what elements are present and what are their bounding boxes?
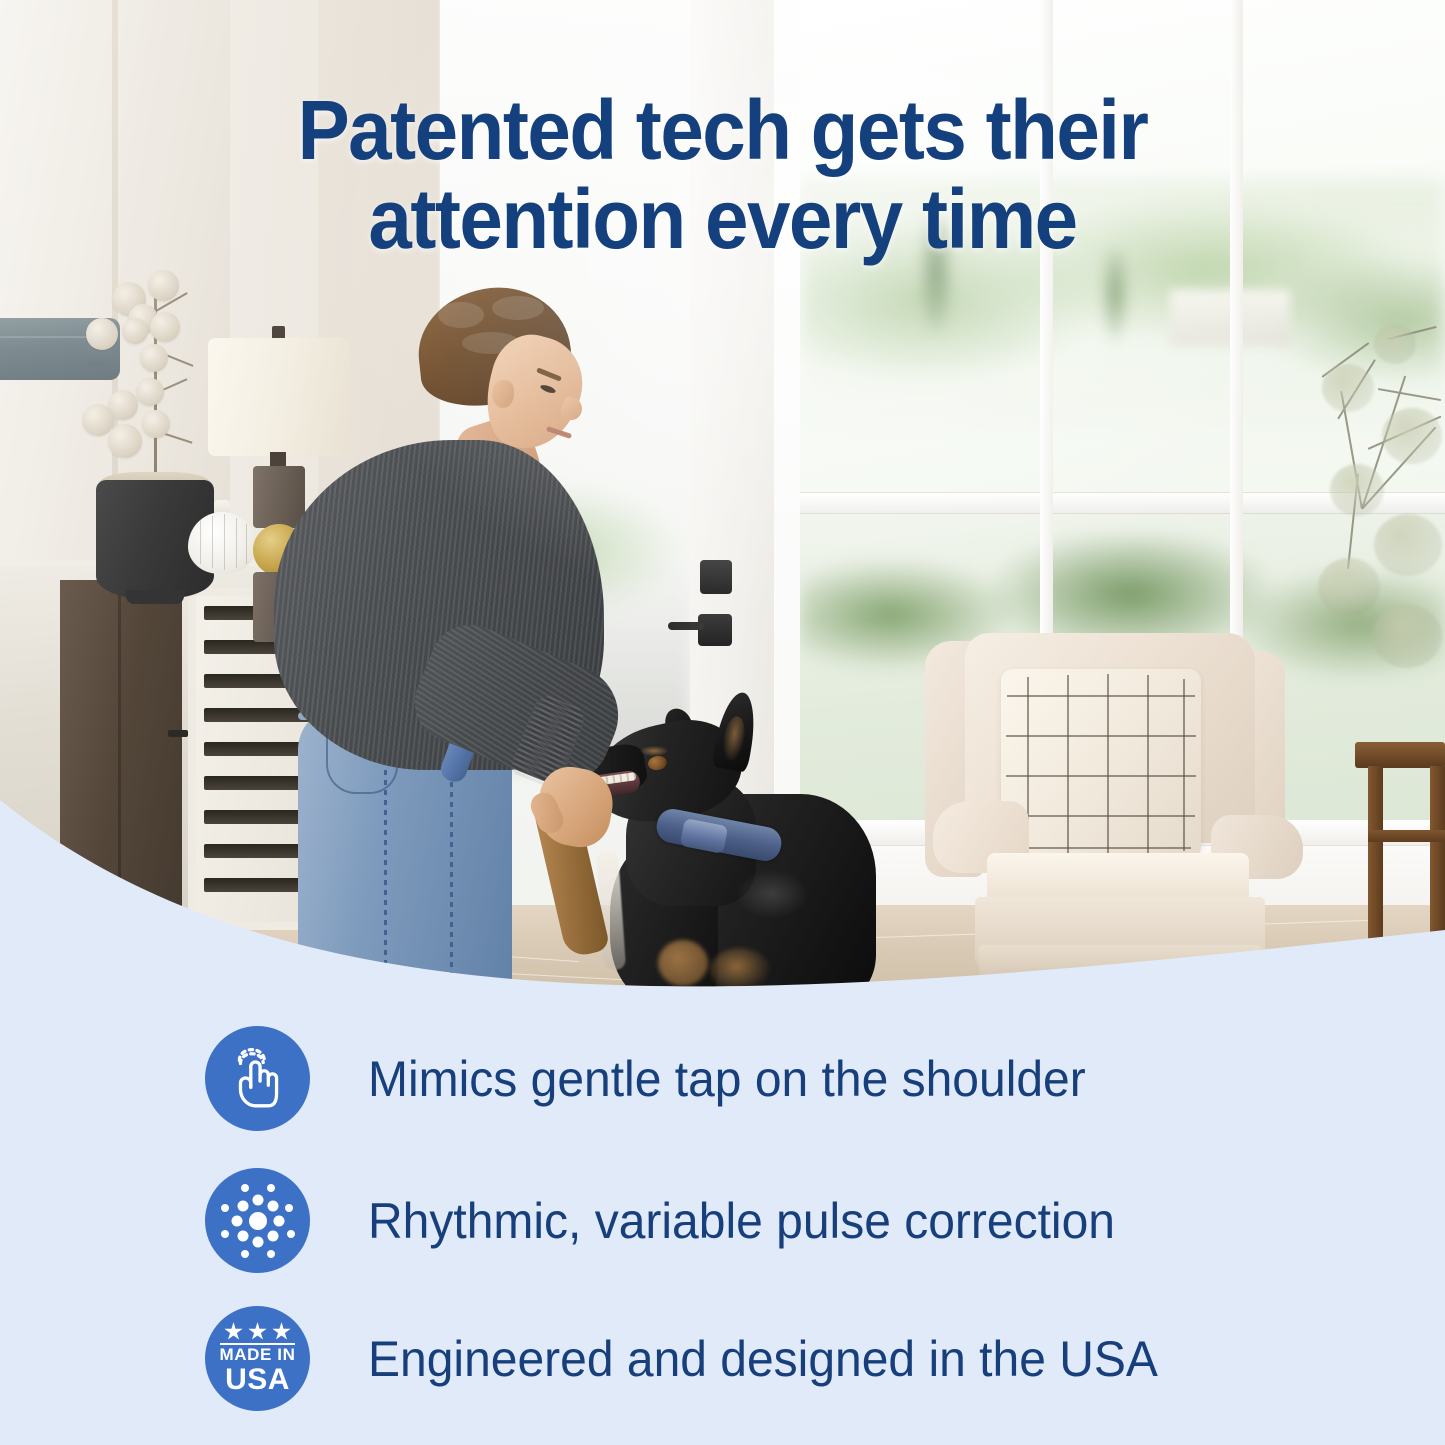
tap-hand-glyph — [225, 1046, 291, 1112]
pulse-burst-icon — [205, 1168, 310, 1273]
feature-row-usa: MADE IN USA Engineered and designed in t… — [205, 1306, 1191, 1411]
cotton-bloom — [140, 344, 168, 372]
cotton-bloom — [150, 312, 180, 342]
pulse-dot-inner — [252, 1194, 263, 1205]
distant-tree — [918, 218, 954, 338]
feature-row-tap: Mimics gentle tap on the shoulder — [205, 1026, 1116, 1131]
cotton-bloom — [148, 270, 179, 301]
branch-foliage — [1382, 408, 1442, 464]
vase-rib — [224, 514, 225, 570]
star-icon — [248, 1322, 267, 1341]
branch-foliage — [1374, 514, 1442, 576]
hair-highlight — [492, 296, 544, 320]
pulse-dot-outer — [267, 1184, 275, 1192]
feature-label: Engineered and designed in the USA — [368, 1334, 1158, 1384]
cotton-bloom — [86, 318, 118, 350]
pulse-dot-inner — [231, 1215, 242, 1226]
usa-text: USA — [225, 1365, 290, 1395]
pulse-dot-inner — [267, 1200, 278, 1211]
pulse-dot-outer — [241, 1250, 249, 1258]
vase-rib — [200, 520, 201, 564]
branch-foliage — [1318, 558, 1380, 616]
vase-rib — [212, 516, 213, 568]
door-handle-plate — [700, 560, 732, 594]
pulse-dot-center — [249, 1212, 267, 1230]
made-in-usa-glyph: MADE IN USA — [216, 1322, 300, 1396]
door-lock-plate — [698, 614, 732, 646]
star-icon — [224, 1322, 243, 1341]
tap-hand-icon — [205, 1026, 310, 1131]
hair-highlight — [438, 302, 484, 328]
cotton-bloom — [122, 318, 148, 344]
branch-foliage — [1322, 364, 1374, 412]
pulse-dot-inner — [252, 1236, 263, 1247]
star-icon — [272, 1322, 291, 1341]
pulse-dot-outer — [221, 1230, 229, 1238]
usa-star-row — [224, 1322, 291, 1341]
cotton-bloom — [142, 410, 170, 438]
sideboard-handle — [168, 730, 188, 737]
pulse-dot-inner — [273, 1215, 284, 1226]
pulse-dot-outer — [267, 1250, 275, 1258]
pulse-dot-inner — [267, 1230, 278, 1241]
pot-base — [126, 590, 184, 604]
made-in-usa-badge-icon: MADE IN USA — [205, 1306, 310, 1411]
branch-foliage — [1330, 464, 1384, 516]
pulse-dot-outer — [287, 1230, 295, 1238]
pillow-grid-line — [1006, 735, 1196, 737]
feature-row-pulse: Rhythmic, variable pulse correction — [205, 1168, 1146, 1273]
pillow-grid-line — [1007, 695, 1195, 697]
branch-twig — [1378, 388, 1441, 401]
dried-branch-arrangement — [1278, 268, 1445, 678]
pulse-dot-inner — [237, 1230, 248, 1241]
pulse-dot-outer — [241, 1184, 249, 1192]
cotton-bloom — [82, 404, 114, 436]
pulse-dot-outer — [221, 1204, 229, 1212]
door-lever-handle — [668, 622, 704, 630]
distant-tree — [1100, 250, 1130, 346]
cotton-bloom — [108, 424, 142, 458]
pulse-dot-outer — [285, 1204, 293, 1212]
vase-rib — [246, 524, 247, 564]
feature-list: Mimics gentle tap on the shoulder — [0, 1010, 1445, 1445]
pulse-burst-glyph — [219, 1182, 297, 1260]
vase-rib — [236, 518, 237, 568]
feature-label: Rhythmic, variable pulse correction — [368, 1196, 1115, 1246]
cotton-bloom — [136, 378, 164, 406]
man-ear — [492, 380, 514, 408]
branch-foliage — [1372, 604, 1442, 668]
usa-made-in-text: MADE IN — [220, 1343, 296, 1365]
branch-foliage — [1374, 324, 1416, 364]
pulse-dot-inner — [237, 1200, 248, 1211]
shelf-grain — [0, 336, 92, 338]
feature-label: Mimics gentle tap on the shoulder — [368, 1054, 1086, 1104]
marketing-graphic: Patented tech gets their attention every… — [0, 0, 1445, 1445]
